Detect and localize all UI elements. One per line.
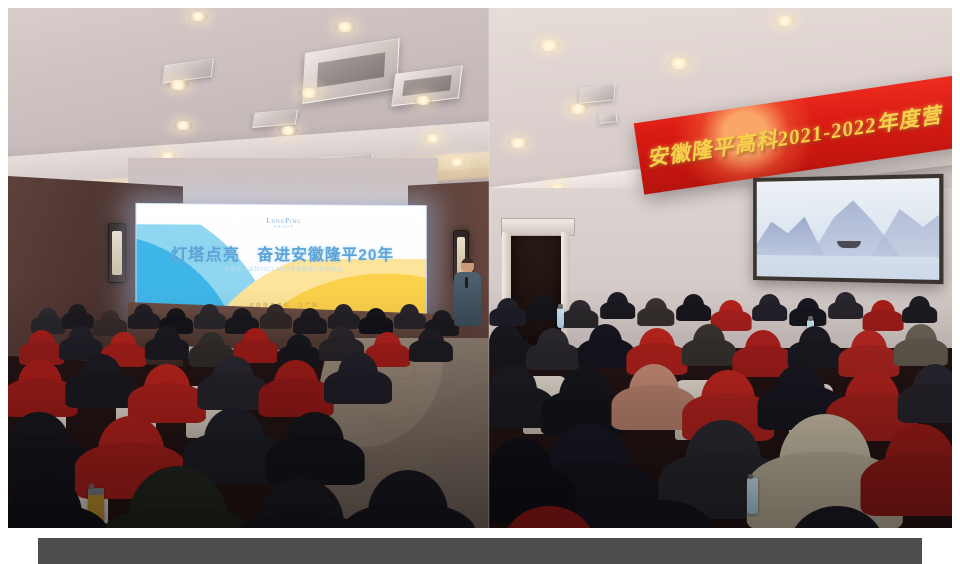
audience-person (693, 324, 725, 360)
downlight (188, 12, 208, 21)
audience-person (913, 364, 952, 414)
audience-person-red (745, 330, 781, 370)
downlight (413, 96, 433, 105)
audience-person (489, 438, 553, 510)
ceiling-vent (599, 113, 618, 124)
downlight (448, 158, 466, 166)
audience-person (134, 304, 153, 325)
audience-person (338, 352, 378, 396)
audience-person (497, 298, 519, 322)
audience-person (38, 308, 58, 330)
audience-person-red (719, 300, 743, 326)
downlight (537, 40, 561, 51)
painting-mountain (753, 214, 824, 256)
audience-person-red (18, 360, 62, 408)
microphone (465, 277, 468, 288)
audience-person (533, 294, 554, 317)
audience-person (775, 364, 825, 420)
downlight (774, 16, 796, 26)
audience-person (68, 304, 87, 325)
audience-person (418, 328, 444, 357)
audience-person-red (242, 328, 269, 358)
audience-person (835, 292, 856, 315)
audience-person (200, 304, 219, 325)
audience-person (683, 294, 704, 317)
audience-person (328, 326, 355, 356)
downlight (173, 121, 193, 130)
audience-person (905, 324, 937, 360)
speaker-person (452, 258, 482, 326)
photo-pane-left: LongPing GROUP 灯塔点亮 奋进安徽隆平20年 安徽隆平高科2021… (8, 8, 489, 528)
audience-person (232, 308, 252, 330)
audience-person (779, 414, 871, 514)
audience-person (366, 308, 386, 330)
audience-person (286, 412, 344, 474)
downlight (567, 104, 589, 114)
downlight (423, 134, 442, 143)
audience-person-red (871, 300, 895, 326)
audience-person (909, 296, 930, 319)
downlight (167, 80, 189, 90)
conference-photo: LongPing GROUP 灯塔点亮 奋进安徽隆平20年 安徽隆平高科2021… (8, 8, 952, 528)
audience-person (100, 310, 120, 332)
audience-person (589, 324, 622, 361)
audience-person (607, 292, 628, 315)
downlight (667, 58, 691, 69)
audience-person (759, 294, 780, 317)
painting-mountain (872, 203, 944, 257)
slide-subtitle: 安徽隆平高科2021-2022年度营销工作总结会 (136, 265, 425, 273)
audience-person (537, 328, 569, 364)
audience-person (799, 326, 831, 362)
downlight (278, 126, 298, 135)
downlight (334, 22, 356, 32)
slide-logo: LongPing GROUP (136, 216, 425, 229)
audience-person (212, 356, 254, 402)
wall-sconce (108, 223, 126, 283)
water-bottle (747, 478, 758, 514)
audience-person-red (374, 332, 401, 362)
audience-person (629, 364, 679, 420)
water-bottle (557, 308, 564, 328)
audience-person-red (110, 332, 137, 362)
slide-logo-text: LongPing (266, 217, 301, 225)
audience-person-red (851, 330, 887, 370)
audience-person (80, 354, 122, 400)
audience-person (154, 326, 180, 355)
downlight (298, 88, 320, 98)
audience-person (569, 300, 591, 324)
audience-person (400, 304, 419, 325)
audience-person (489, 324, 523, 362)
landscape-painting (753, 174, 943, 284)
audience-person-red (845, 370, 899, 430)
downlight (507, 138, 529, 148)
audience-person (645, 298, 667, 322)
audience-person-red (28, 330, 55, 360)
painting-boat (837, 241, 861, 248)
audience-person (489, 364, 537, 418)
audience-person (286, 334, 312, 363)
audience-person (300, 308, 320, 330)
audience-person (8, 412, 70, 478)
audience-person-red (885, 424, 952, 502)
screenshot-root: LongPing GROUP 灯塔点亮 奋进安徽隆平20年 安徽隆平高科2021… (0, 0, 960, 564)
bottom-gray-bar (38, 538, 922, 564)
audience-person (198, 332, 225, 362)
audience-person (334, 304, 353, 325)
photo-stitch-seam (488, 8, 490, 528)
audience-person (68, 326, 94, 355)
audience-person (204, 408, 264, 472)
audience-person-red (639, 328, 675, 368)
audience-person-red (274, 360, 318, 408)
audience-person (559, 368, 611, 426)
photo-pane-right: 安徽隆平高科2021-2022年度营 (489, 8, 952, 528)
audience-person (266, 304, 285, 325)
speaker-head (461, 258, 474, 273)
slide-title: 灯塔点亮 奋进安徽隆平20年 (136, 241, 425, 265)
audience-person-red (144, 364, 190, 414)
projection-screen: LongPing GROUP 灯塔点亮 奋进安徽隆平20年 安徽隆平高科2021… (135, 203, 426, 319)
